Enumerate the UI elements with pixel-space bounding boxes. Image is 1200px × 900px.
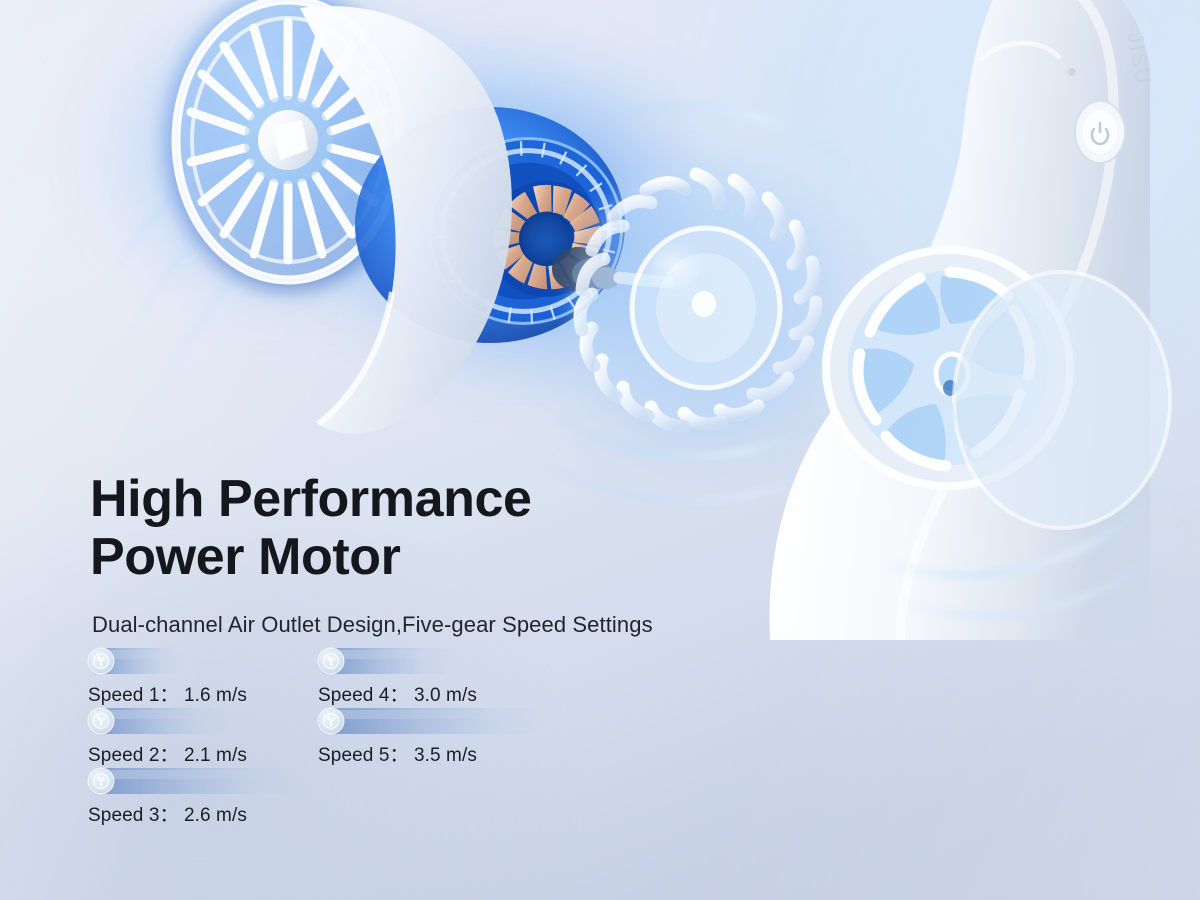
page-title: High Performance Power Motor	[90, 470, 532, 586]
speed-row-2: Speed 2： 2.1 m/s	[88, 708, 247, 770]
speed-bar-3	[88, 768, 298, 794]
speed-bar-5	[318, 708, 538, 734]
fan-icon	[319, 649, 343, 673]
speed-bar-1	[88, 648, 182, 674]
speed-bar-4	[318, 648, 453, 674]
fan-icon	[89, 709, 113, 733]
speed-bar-gloss	[90, 770, 296, 779]
speed-bar-2	[88, 708, 228, 734]
speed-label-5: Speed 5： 3.5 m/s	[318, 740, 538, 767]
subheading: Dual-channel Air Outlet Design,Five-gear…	[92, 612, 653, 638]
speed-row-3: Speed 3： 2.6 m/s	[88, 768, 298, 830]
speed-row-1: Speed 1： 1.6 m/s	[88, 648, 247, 710]
speed-label-4: Speed 4： 3.0 m/s	[318, 680, 477, 707]
speed-label-3: Speed 3： 2.6 m/s	[88, 800, 298, 827]
speed-row-5: Speed 5： 3.5 m/s	[318, 708, 538, 770]
fan-icon	[319, 709, 343, 733]
speed-row-4: Speed 4： 3.0 m/s	[318, 648, 477, 710]
fan-icon	[89, 649, 113, 673]
product-banner: JISU High Performance Power Motor Dual-c…	[0, 0, 1200, 900]
speed-label-1: Speed 1： 1.6 m/s	[88, 680, 247, 707]
fan-icon	[89, 769, 113, 793]
speed-bar-gloss	[320, 710, 536, 719]
speed-label-2: Speed 2： 2.1 m/s	[88, 740, 247, 767]
